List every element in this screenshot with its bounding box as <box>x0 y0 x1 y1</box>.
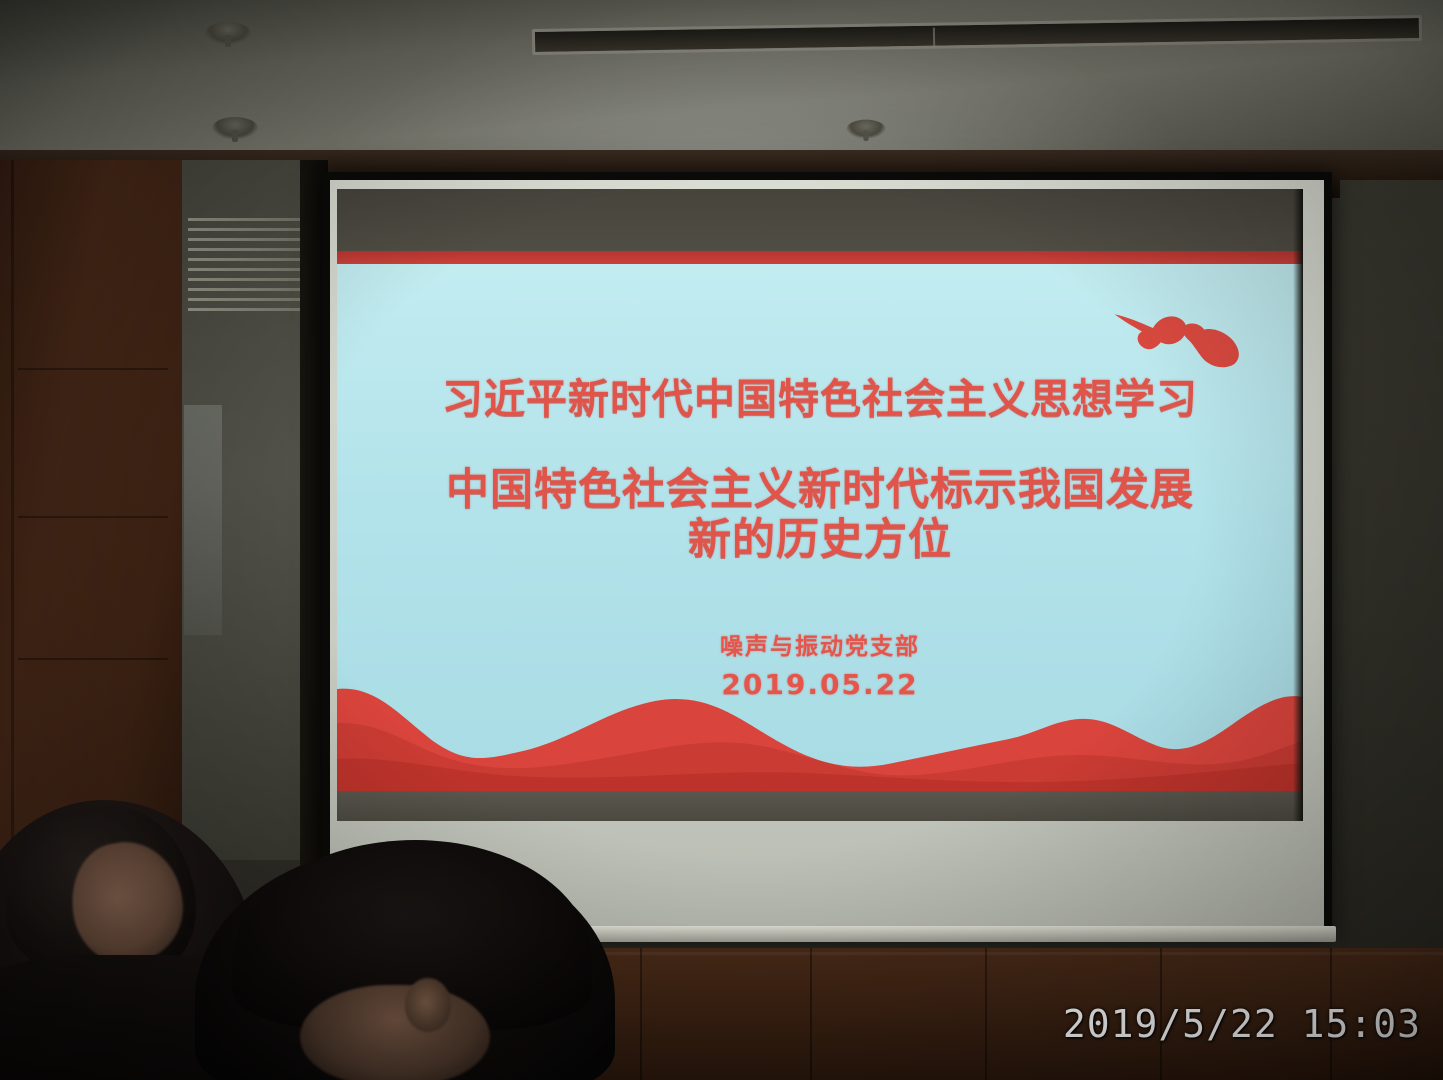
wall-louver-vent <box>188 218 314 340</box>
glass-reflection <box>184 405 222 635</box>
attendee-man-face <box>300 985 490 1080</box>
mountain-shape <box>337 663 1303 793</box>
slide-title-line-3: 新的历史方位 <box>337 515 1303 565</box>
sprinkler-icon <box>205 22 251 44</box>
sprinkler-icon <box>846 120 885 139</box>
slide-title-line-2: 中国特色社会主义新时代标示我国发展 <box>337 465 1303 515</box>
slide-title-line-1: 习近平新时代中国特色社会主义思想学习 <box>337 375 1303 423</box>
red-accent-bar <box>337 251 1303 264</box>
dove-icon <box>1174 318 1247 375</box>
slide-right-shadow <box>1293 189 1303 821</box>
sprinkler-icon <box>212 117 258 139</box>
panel-seam <box>18 658 168 660</box>
slide-title-block: 习近平新时代中国特色社会主义思想学习 中国特色社会主义新时代标示我国发展 新的历… <box>337 375 1303 565</box>
panel-seam <box>18 368 168 370</box>
attendee-man-ear <box>405 978 451 1032</box>
wood-panel-wall <box>0 160 182 860</box>
right-wall <box>1340 180 1443 950</box>
wainscot-seam <box>810 948 812 1080</box>
slide-bottom-shadow-band <box>337 791 1303 821</box>
slide-top-shadow-band <box>337 189 1303 251</box>
wainscot-seam <box>640 948 642 1080</box>
vent-seam <box>933 28 935 48</box>
red-mountain-wave-graphic <box>337 663 1303 793</box>
red-dove-pair <box>1115 297 1245 367</box>
wainscot-seam <box>985 948 987 1080</box>
camera-timestamp: 2019/5/22 15:03 <box>1063 1002 1421 1046</box>
slide-organization: 噪声与振动党支部 <box>337 627 1303 661</box>
projected-slide: 习近平新时代中国特色社会主义思想学习 中国特色社会主义新时代标示我国发展 新的历… <box>337 189 1303 821</box>
panel-edge <box>11 160 14 860</box>
photograph-root: 习近平新时代中国特色社会主义思想学习 中国特色社会主义新时代标示我国发展 新的历… <box>0 0 1443 1080</box>
panel-seam <box>18 516 168 518</box>
